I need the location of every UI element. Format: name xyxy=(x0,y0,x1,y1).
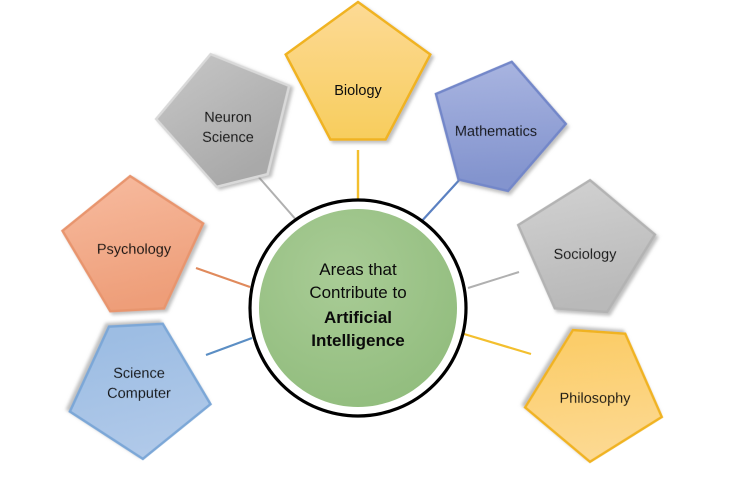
node-label-neuron-science-line2: Science xyxy=(202,130,254,146)
node-mathematics[interactable]: Mathematics xyxy=(418,47,576,200)
center-hub-line3: Artificial xyxy=(324,308,392,327)
center-hub-line4: Intelligence xyxy=(311,331,405,350)
node-neuron-science[interactable]: Neuron Science xyxy=(144,38,308,198)
connector-mathematics xyxy=(420,177,462,223)
node-label-psychology-line1: Psychology xyxy=(97,242,172,258)
connector-philosophy xyxy=(464,334,531,354)
node-label-mathematics-line1: Mathematics xyxy=(455,124,537,140)
center-hub-line2: Contribute to xyxy=(309,283,406,302)
connector-neuron-science xyxy=(256,174,298,222)
node-label-computer-science-line1: Computer xyxy=(107,386,171,402)
connector-sociology xyxy=(468,272,519,288)
node-label-philosophy-line1: Philosophy xyxy=(560,391,632,407)
center-hub-line1: Areas that xyxy=(319,260,397,279)
node-label-biology-line1: Biology xyxy=(334,83,382,99)
node-computer-science[interactable]: Computer Science xyxy=(66,321,214,462)
center-hub[interactable]: Areas that Contribute to Artificial Inte… xyxy=(250,200,466,416)
node-label-sociology-line1: Sociology xyxy=(554,247,618,263)
node-biology[interactable]: Biology xyxy=(286,2,431,140)
node-label-computer-science-line2: Science xyxy=(113,366,165,382)
node-philosophy[interactable]: Philosophy xyxy=(522,327,668,467)
node-label-neuron-science-line1: Neuron xyxy=(204,110,252,126)
connector-computer-science xyxy=(206,338,252,355)
node-psychology[interactable]: Psychology xyxy=(60,172,208,313)
diagram-svg: Neuron Science Biology Mathematics Socio… xyxy=(0,0,734,483)
connector-psychology xyxy=(196,268,250,287)
pentagon-shape-biology xyxy=(286,2,431,140)
diagram-canvas: Neuron Science Biology Mathematics Socio… xyxy=(0,0,734,483)
node-sociology[interactable]: Sociology xyxy=(513,175,659,315)
pentagon-shape-sociology xyxy=(513,175,659,315)
